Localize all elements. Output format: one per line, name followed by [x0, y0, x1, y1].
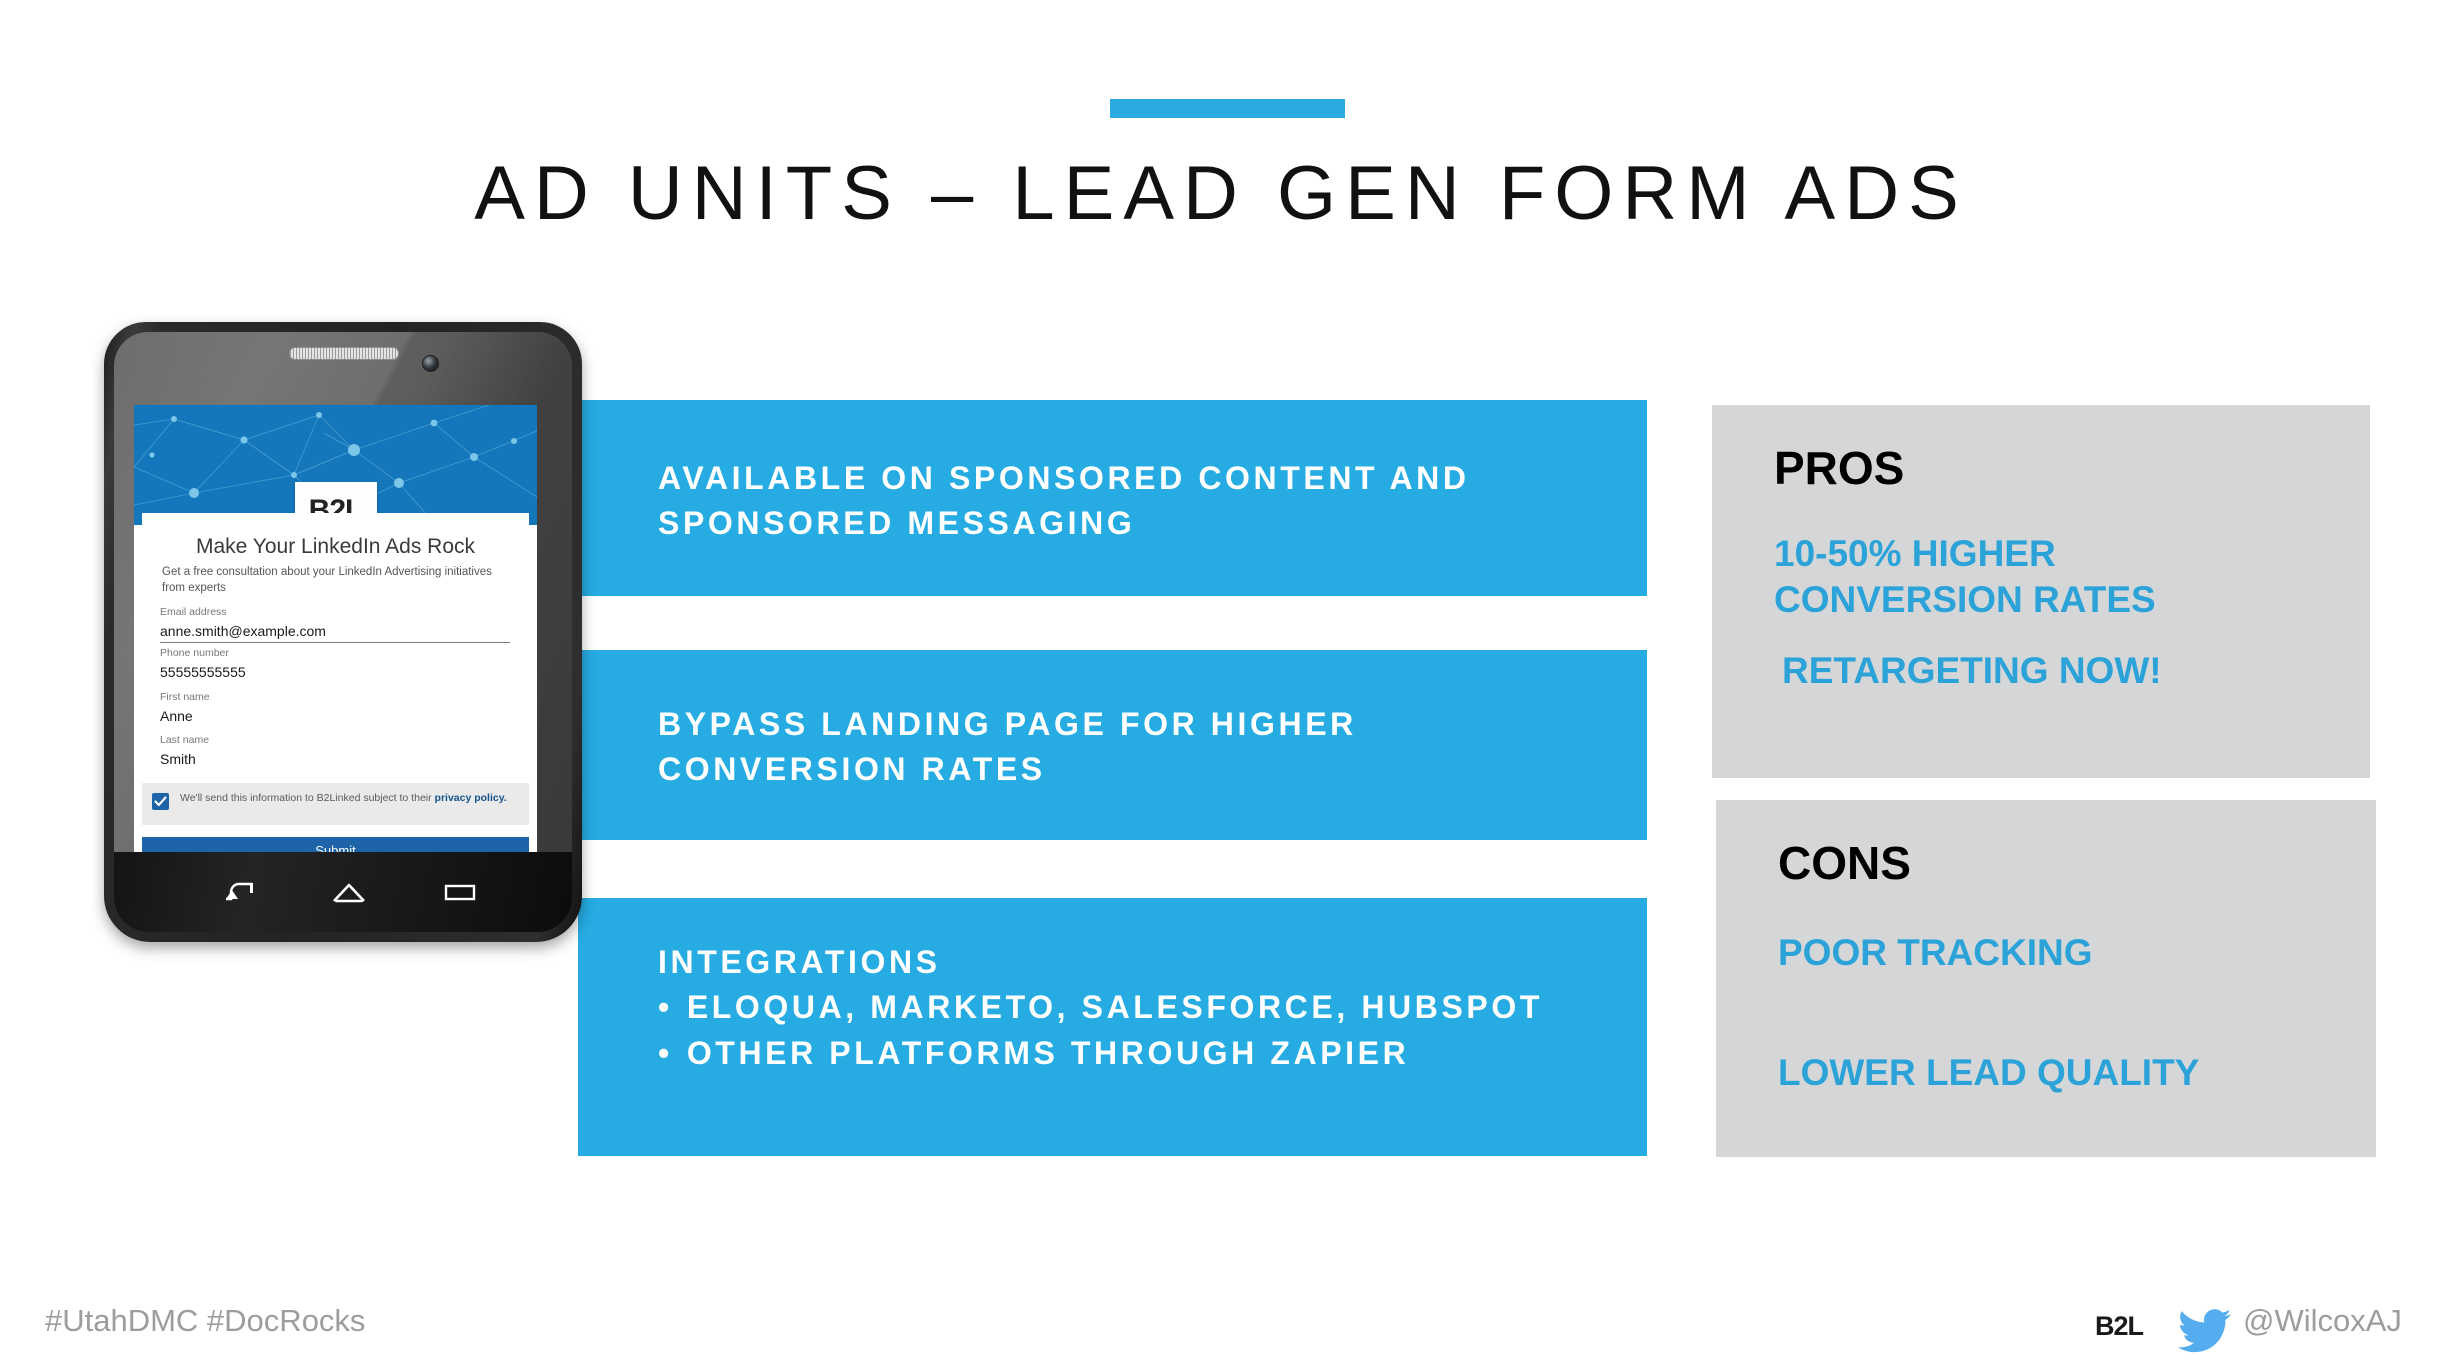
email-field-value[interactable]: anne.smith@example.com	[160, 619, 510, 644]
first-name-field-label: First name	[160, 691, 510, 704]
cons-item-lead-quality: LOWER LEAD QUALITY	[1778, 1050, 2199, 1096]
ad-contact-fields: Email address anne.smith@example.com Pho…	[142, 597, 529, 675]
content-box-bypass-text: BYPASS LANDING PAGE FOR HIGHER CONVERSIO…	[658, 702, 1357, 793]
phone-screen: B2L b2linked Make Your LinkedIn Ads Rock…	[134, 405, 537, 852]
integrations-heading: INTEGRATIONS	[658, 940, 1543, 985]
pros-panel: PROS 10-50% HIGHER CONVERSION RATES RETA…	[1712, 405, 2370, 778]
integrations-bullet: ELOQUA, MARKETO, SALESFORCE, HUBSPOT	[658, 985, 1543, 1030]
footer-twitter-handle: @WilcoxAJ	[2243, 1303, 2402, 1339]
back-icon[interactable]	[224, 880, 254, 909]
checkmark-icon	[154, 795, 167, 808]
pros-item-retargeting: RETARGETING NOW!	[1782, 648, 2162, 694]
ad-headline: Make Your LinkedIn Ads Rock	[142, 535, 529, 559]
ad-name-fields: First name Anne Last name Smith	[142, 681, 529, 777]
recents-icon[interactable]	[444, 880, 476, 909]
phone-mockup: B2L b2linked Make Your LinkedIn Ads Rock…	[104, 322, 582, 942]
ad-headline-card: Make Your LinkedIn Ads Rock Get a free c…	[142, 513, 529, 589]
consent-checkbox[interactable]	[152, 793, 169, 810]
twitter-icon[interactable]	[2177, 1308, 2233, 1359]
email-field[interactable]: Email address anne.smith@example.com	[160, 606, 510, 643]
phone-earpiece-speaker	[289, 347, 399, 360]
title-accent-bar	[1110, 99, 1345, 118]
pros-item-conversion: 10-50% HIGHER CONVERSION RATES	[1774, 531, 2156, 623]
phone-field-label: Phone number	[160, 647, 510, 660]
phone-nav-bar	[114, 852, 572, 932]
pros-item-line: 10-50% HIGHER	[1774, 531, 2156, 577]
consent-text-main: We'll send this information to B2Linked …	[180, 792, 435, 804]
first-name-field-value[interactable]: Anne	[160, 704, 510, 728]
content-box-bypass: BYPASS LANDING PAGE FOR HIGHER CONVERSIO…	[578, 650, 1647, 840]
consent-text: We'll send this information to B2Linked …	[180, 791, 518, 805]
last-name-field-value[interactable]: Smith	[160, 747, 510, 771]
pros-item-line: CONVERSION RATES	[1774, 577, 2156, 623]
phone-front-camera-icon	[422, 355, 439, 372]
footer-hashtags: #UtahDMC #DocRocks	[45, 1303, 365, 1339]
footer-logo-mark: B2L	[2095, 1313, 2143, 1340]
submit-button[interactable]: Submit	[142, 837, 529, 852]
content-box-integrations-text: INTEGRATIONS ELOQUA, MARKETO, SALESFORCE…	[658, 940, 1543, 1076]
last-name-field-label: Last name	[160, 734, 510, 747]
phone-field[interactable]: Phone number 55555555555	[160, 647, 510, 684]
cons-panel: CONS POOR TRACKING LOWER LEAD QUALITY	[1716, 800, 2376, 1157]
cons-item-tracking: POOR TRACKING	[1778, 930, 2093, 976]
content-line: CONVERSION RATES	[658, 747, 1357, 792]
content-line: SPONSORED MESSAGING	[658, 501, 1470, 546]
content-box-availability: AVAILABLE ON SPONSORED CONTENT AND SPONS…	[578, 400, 1647, 596]
ad-subtext: Get a free consultation about your Linke…	[162, 565, 512, 596]
footer-b2linked-logo: B2L	[2083, 1305, 2155, 1347]
consent-row: We'll send this information to B2Linked …	[142, 783, 529, 825]
page-title: AD UNITS – LEAD GEN FORM ADS	[0, 150, 2442, 237]
content-box-availability-text: AVAILABLE ON SPONSORED CONTENT AND SPONS…	[658, 456, 1470, 547]
cons-heading: CONS	[1778, 836, 1911, 890]
content-line: BYPASS LANDING PAGE FOR HIGHER	[658, 702, 1357, 747]
content-line: AVAILABLE ON SPONSORED CONTENT AND	[658, 456, 1470, 501]
pros-heading: PROS	[1774, 441, 1904, 495]
first-name-field[interactable]: First name Anne	[160, 691, 510, 727]
home-icon[interactable]	[332, 880, 366, 909]
email-field-label: Email address	[160, 606, 510, 619]
content-box-integrations: INTEGRATIONS ELOQUA, MARKETO, SALESFORCE…	[578, 898, 1647, 1156]
last-name-field[interactable]: Last name Smith	[160, 734, 510, 770]
privacy-policy-link[interactable]: privacy policy.	[435, 792, 507, 804]
integrations-bullet: OTHER PLATFORMS THROUGH ZAPIER	[658, 1031, 1543, 1076]
